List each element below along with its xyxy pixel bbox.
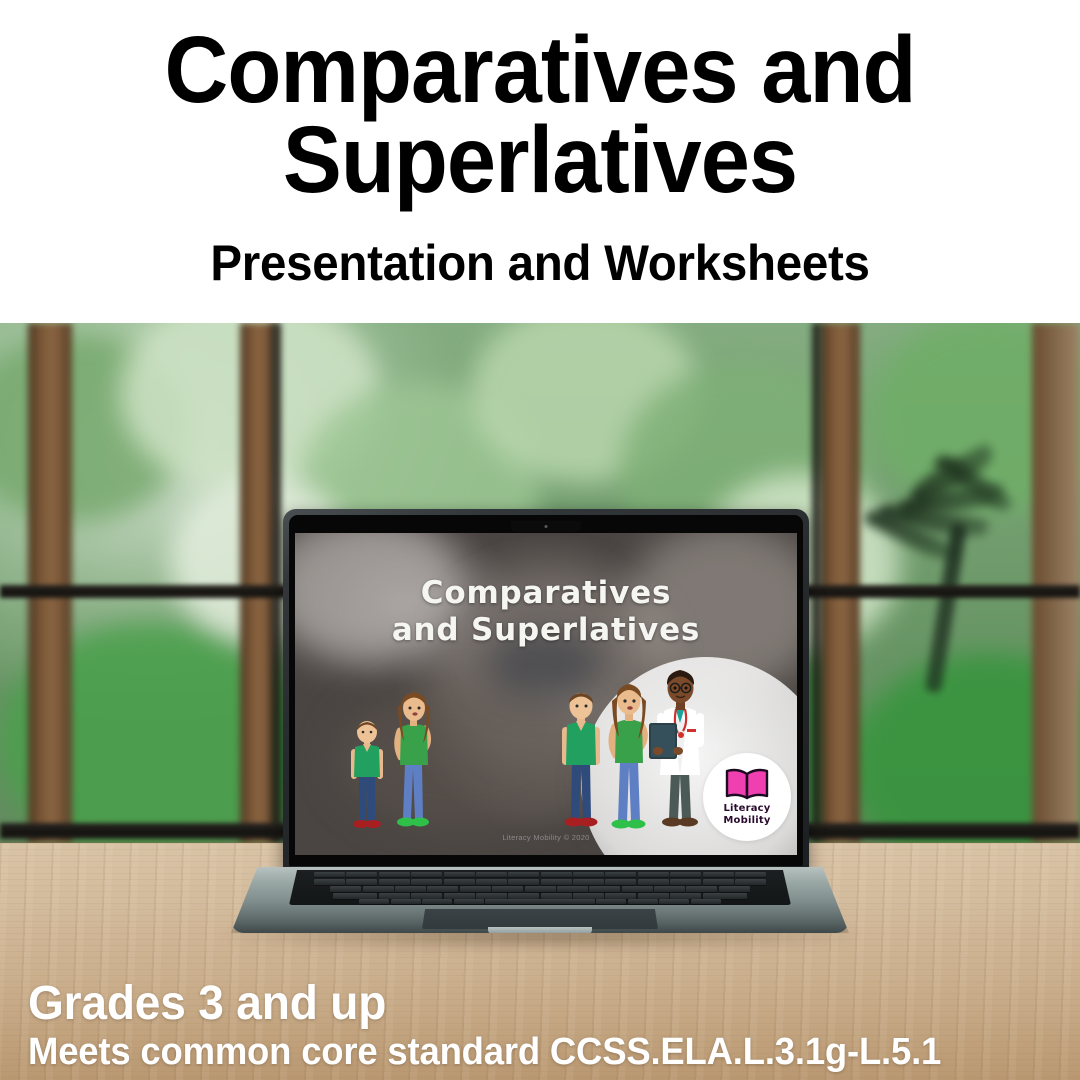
keyboard-key[interactable] — [596, 899, 626, 904]
keyboard-key[interactable] — [541, 872, 572, 877]
product-photo: Comparatives and Superlatives — [0, 323, 1080, 1080]
keyboard-key[interactable] — [485, 899, 595, 904]
keyboard-key[interactable] — [422, 899, 452, 904]
keyboard-row — [289, 872, 791, 877]
keyboard-key[interactable] — [379, 893, 410, 899]
laptop-trackpad[interactable] — [422, 909, 658, 929]
keyboard-key[interactable] — [391, 899, 421, 904]
laptop-lid: Comparatives and Superlatives — [283, 509, 809, 872]
keyboard-key[interactable] — [411, 872, 442, 877]
keyboard-key[interactable] — [719, 886, 750, 892]
keyboard-key[interactable] — [670, 879, 701, 885]
slide-title-line1: Comparatives — [295, 575, 797, 612]
logo-text: Literacy Mobility — [723, 803, 770, 826]
keyboard-key[interactable] — [508, 893, 539, 899]
keyboard-key[interactable] — [638, 872, 669, 877]
keyboard-row — [289, 899, 791, 904]
keyboard-key[interactable] — [589, 886, 620, 892]
laptop-base — [231, 867, 849, 933]
keyboard-key[interactable] — [573, 893, 604, 899]
window-mullion — [28, 323, 72, 843]
header-band: Comparatives and Superlatives Presentati… — [0, 0, 1080, 323]
keyboard-key[interactable] — [670, 872, 701, 877]
keyboard-key[interactable] — [444, 893, 475, 899]
keyboard-key[interactable] — [573, 879, 604, 885]
keyboard-key[interactable] — [622, 886, 653, 892]
keyboard-key[interactable] — [454, 899, 484, 904]
keyboard-key[interactable] — [333, 893, 377, 899]
keyboard-key[interactable] — [346, 872, 377, 877]
window-mullion — [1032, 323, 1080, 843]
keyboard-key[interactable] — [444, 879, 475, 885]
keyboard-key[interactable] — [330, 886, 361, 892]
keyboard-key[interactable] — [686, 886, 717, 892]
keyboard-key[interactable] — [703, 893, 747, 899]
keyboard-key[interactable] — [703, 879, 734, 885]
keyboard-key[interactable] — [670, 893, 701, 899]
keyboard-key[interactable] — [411, 879, 442, 885]
keyboard-key[interactable] — [411, 893, 442, 899]
keyboard-key[interactable] — [628, 899, 658, 904]
keyboard-key[interactable] — [703, 872, 734, 877]
keyboard-key[interactable] — [395, 886, 426, 892]
slide-copyright: Literacy Mobility © 2020 — [295, 833, 797, 842]
keyboard-key[interactable] — [460, 886, 491, 892]
keyboard-row — [289, 893, 791, 899]
keyboard-key[interactable] — [541, 879, 572, 885]
footer-text: Grades 3 and up Meets common core standa… — [0, 978, 1080, 1080]
character-doctor — [647, 667, 717, 839]
keyboard-key[interactable] — [654, 886, 685, 892]
keyboard-key[interactable] — [314, 872, 345, 877]
keyboard-key[interactable] — [735, 879, 766, 885]
keyboard-key[interactable] — [508, 872, 539, 877]
keyboard-key[interactable] — [363, 886, 394, 892]
page-title-line1: Comparatives and — [38, 22, 1042, 118]
keyboard-key[interactable] — [605, 893, 636, 899]
keyboard-key[interactable] — [476, 893, 507, 899]
keyboard-key[interactable] — [346, 879, 377, 885]
laptop: Comparatives and Superlatives — [231, 509, 849, 943]
grade-level-label: Grades 3 and up — [28, 978, 1038, 1030]
logo-name-line1: Literacy — [723, 803, 770, 815]
keyboard-key[interactable] — [379, 872, 410, 877]
keyboard-key[interactable] — [525, 886, 556, 892]
keyboard-key[interactable] — [691, 899, 721, 904]
keyboard-key[interactable] — [541, 893, 572, 899]
keyboard-key[interactable] — [605, 879, 636, 885]
keyboard-key[interactable] — [314, 879, 345, 885]
page-title-line2: Superlatives — [38, 112, 1042, 208]
keyboard-key[interactable] — [476, 879, 507, 885]
laptop-keyboard[interactable] — [289, 870, 791, 905]
webcam-icon — [545, 525, 548, 528]
keyboard-key[interactable] — [427, 886, 458, 892]
slide-title-line2: and Superlatives — [295, 612, 797, 649]
keyboard-key[interactable] — [638, 879, 669, 885]
open-book-icon — [724, 768, 770, 800]
keyboard-key[interactable] — [444, 872, 475, 877]
keyboard-key[interactable] — [379, 879, 410, 885]
keyboard-key[interactable] — [508, 879, 539, 885]
keyboard-key[interactable] — [659, 899, 689, 904]
keyboard-key[interactable] — [359, 899, 389, 904]
character-girl-tall-left — [387, 687, 441, 839]
keyboard-key[interactable] — [605, 872, 636, 877]
keyboard-key[interactable] — [492, 886, 523, 892]
slide-title: Comparatives and Superlatives — [295, 575, 797, 649]
keyboard-key[interactable] — [638, 893, 669, 899]
product-cover-image: Comparatives and Superlatives Presentati… — [0, 0, 1080, 1080]
keyboard-key[interactable] — [573, 872, 604, 877]
laptop-front-lip — [488, 927, 592, 934]
common-core-standard-label: Meets common core standard CCSS.ELA.L.3.… — [28, 1030, 1038, 1074]
screen-bezel: Comparatives and Superlatives — [289, 515, 803, 866]
page-subtitle: Presentation and Worksheets — [27, 235, 1053, 291]
keyboard-row — [289, 879, 791, 885]
character-boy-short-left — [343, 717, 391, 837]
presentation-slide: Comparatives and Superlatives — [295, 533, 797, 855]
keyboard-key[interactable] — [557, 886, 588, 892]
keyboard-key[interactable] — [735, 872, 766, 877]
keyboard-key[interactable] — [476, 872, 507, 877]
keyboard-row — [289, 886, 791, 892]
logo-name-line2: Mobility — [723, 815, 770, 827]
